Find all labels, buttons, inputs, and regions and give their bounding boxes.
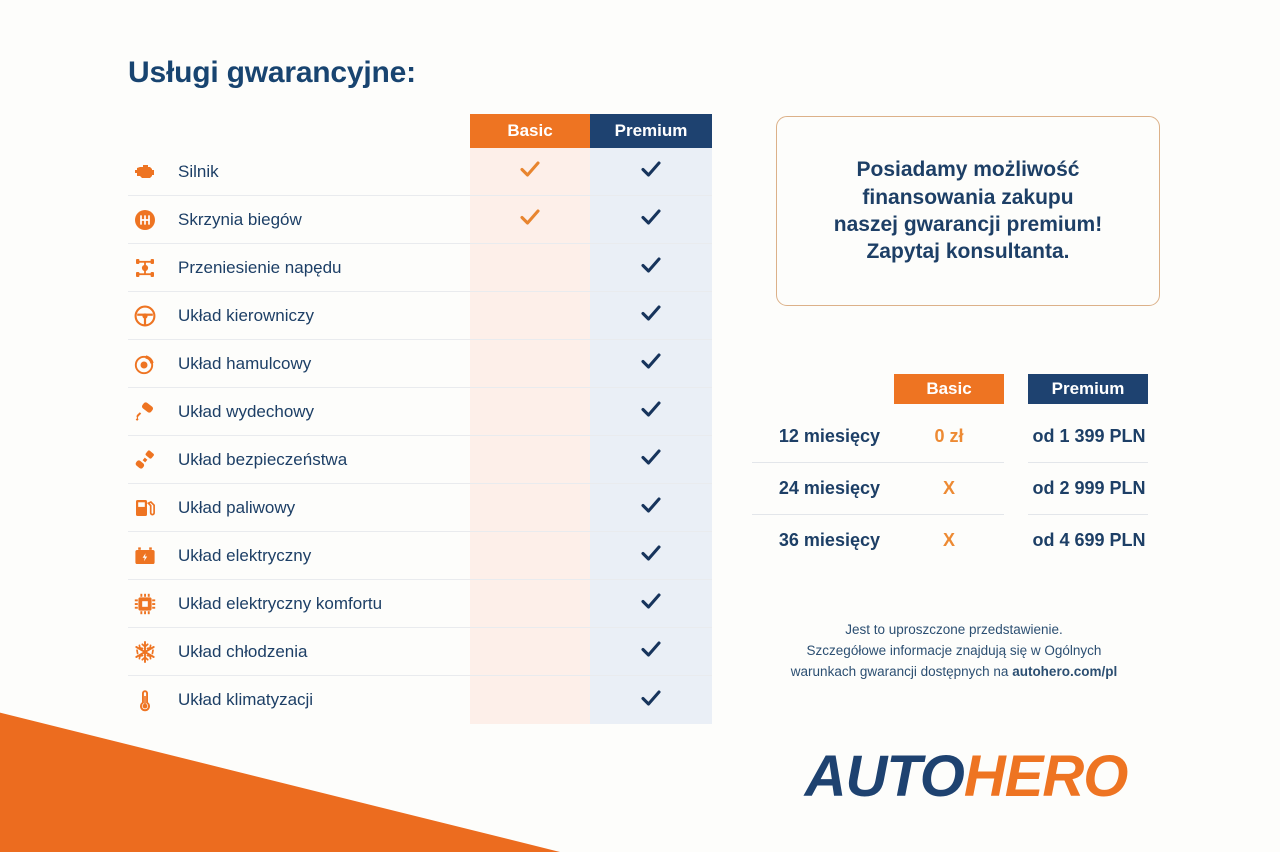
pricing-row-separator-left: [752, 462, 1004, 463]
basic-cell: [470, 484, 590, 532]
services-header-premium: Premium: [590, 114, 712, 148]
chip-icon: [128, 592, 162, 616]
service-label: Układ bezpieczeństwa: [162, 450, 470, 470]
basic-cell: [470, 388, 590, 436]
service-label: Przeniesienie napędu: [162, 258, 470, 278]
premium-cell: [590, 388, 712, 436]
pricing-table-header: Basic Premium: [752, 374, 1160, 404]
pricing-row: 12 miesięcy0 złod 1 399 PLN: [752, 410, 1160, 462]
table-row: Układ bezpieczeństwa: [128, 436, 712, 484]
pricing-basic-value: 0 zł: [894, 426, 1004, 447]
snowflake-icon: [128, 640, 162, 664]
pricing-premium-value: od 1 399 PLN: [1028, 426, 1160, 447]
table-row: Układ elektryczny: [128, 532, 712, 580]
pricing-months: 24 miesięcy: [752, 478, 894, 499]
basic-cell: [470, 676, 590, 724]
check-icon: [639, 589, 663, 618]
financing-line-3: naszej gwarancji premium!: [834, 211, 1102, 238]
table-row: Skrzynia biegów: [128, 196, 712, 244]
check-icon: [639, 541, 663, 570]
financing-line-1: Posiadamy możliwość: [834, 156, 1102, 183]
pricing-row: 36 miesięcyXod 4 699 PLN: [752, 514, 1160, 566]
pricing-table: Basic Premium 12 miesięcy0 złod 1 399 PL…: [752, 374, 1160, 566]
warranty-services-panel: Usługi gwarancyjne: Basic Premium Silnik…: [128, 56, 712, 724]
financing-callout-text: Posiadamy możliwość finansowania zakupu …: [818, 156, 1118, 265]
service-label: Układ klimatyzacji: [162, 690, 470, 710]
basic-cell: [470, 196, 590, 244]
check-icon: [639, 205, 663, 234]
basic-cell: [470, 436, 590, 484]
table-row: Przeniesienie napędu: [128, 244, 712, 292]
pricing-months: 12 miesięcy: [752, 426, 894, 447]
footnote-line-1: Jest to uproszczone przedstawienie.: [744, 620, 1164, 641]
footnote: Jest to uproszczone przedstawienie. Szcz…: [744, 620, 1164, 683]
pricing-row-separator-left: [752, 514, 1004, 515]
premium-cell: [590, 148, 712, 196]
premium-cell: [590, 628, 712, 676]
table-row: Układ chłodzenia: [128, 628, 712, 676]
check-icon: [639, 445, 663, 474]
footnote-website-link[interactable]: autohero.com/pl: [1012, 664, 1117, 679]
premium-cell: [590, 292, 712, 340]
drivetrain-icon: [128, 256, 162, 280]
battery-icon: [128, 544, 162, 568]
seatbelt-icon: [128, 448, 162, 472]
pricing-header-gap: [1004, 374, 1028, 404]
footnote-line-3-prefix: warunkach gwarancji dostępnych na: [791, 664, 1012, 679]
premium-cell: [590, 196, 712, 244]
pricing-basic-value: X: [894, 530, 1004, 551]
check-icon: [518, 205, 542, 234]
steering-wheel-icon: [128, 304, 162, 328]
basic-cell: [470, 340, 590, 388]
table-row: Silnik: [128, 148, 712, 196]
service-label: Układ chłodzenia: [162, 642, 470, 662]
table-row: Układ klimatyzacji: [128, 676, 712, 724]
basic-cell: [470, 292, 590, 340]
service-label: Układ wydechowy: [162, 402, 470, 422]
exhaust-icon: [128, 400, 162, 424]
check-icon: [639, 493, 663, 522]
services-row-list: SilnikSkrzynia biegówPrzeniesienie napęd…: [128, 148, 712, 724]
check-icon: [518, 157, 542, 186]
check-icon: [639, 301, 663, 330]
basic-cell: [470, 628, 590, 676]
page-title: Usługi gwarancyjne:: [128, 56, 712, 90]
service-label: Układ elektryczny: [162, 546, 470, 566]
brake-disc-icon: [128, 352, 162, 376]
pricing-premium-value: od 2 999 PLN: [1028, 478, 1160, 499]
service-label: Układ hamulcowy: [162, 354, 470, 374]
services-table: Basic Premium SilnikSkrzynia biegówPrzen…: [128, 114, 712, 724]
services-table-header: Basic Premium: [470, 114, 712, 148]
pricing-row-separator-right: [1028, 514, 1148, 515]
pricing-premium-value: od 4 699 PLN: [1028, 530, 1160, 551]
engine-icon: [128, 160, 162, 184]
logo-part-hero: HERO: [964, 744, 1128, 809]
check-icon: [639, 349, 663, 378]
service-label: Układ paliwowy: [162, 498, 470, 518]
gearbox-icon: [128, 208, 162, 232]
table-row: Układ elektryczny komfortu: [128, 580, 712, 628]
table-row: Układ paliwowy: [128, 484, 712, 532]
pricing-header-premium: Premium: [1028, 374, 1148, 404]
basic-cell: [470, 532, 590, 580]
premium-cell: [590, 340, 712, 388]
pricing-basic-value: X: [894, 478, 1004, 499]
pricing-header-basic: Basic: [894, 374, 1004, 404]
premium-cell: [590, 484, 712, 532]
page-root: Usługi gwarancyjne: Basic Premium Silnik…: [0, 0, 1280, 852]
premium-cell: [590, 676, 712, 724]
service-label: Skrzynia biegów: [162, 210, 470, 230]
service-label: Układ kierowniczy: [162, 306, 470, 326]
footnote-line-2: Szczegółowe informacje znajdują się w Og…: [744, 641, 1164, 662]
pricing-header-right-spacer: [1148, 374, 1160, 404]
premium-cell: [590, 244, 712, 292]
check-icon: [639, 686, 663, 715]
table-row: Układ hamulcowy: [128, 340, 712, 388]
thermometer-icon: [128, 688, 162, 712]
premium-cell: [590, 580, 712, 628]
services-header-basic: Basic: [470, 114, 590, 148]
pricing-row: 24 miesięcyXod 2 999 PLN: [752, 462, 1160, 514]
service-label: Układ elektryczny komfortu: [162, 594, 470, 614]
basic-cell: [470, 148, 590, 196]
pricing-row-list: 12 miesięcy0 złod 1 399 PLN24 miesięcyXo…: [752, 410, 1160, 566]
logo-part-auto: AUTO: [805, 744, 964, 809]
autohero-logo: AUTOHERO: [756, 748, 1176, 806]
check-icon: [639, 637, 663, 666]
basic-cell: [470, 244, 590, 292]
financing-line-4: Zapytaj konsultanta.: [834, 238, 1102, 265]
table-row: Układ wydechowy: [128, 388, 712, 436]
check-icon: [639, 253, 663, 282]
pricing-row-separator-right: [1028, 462, 1148, 463]
pricing-header-months-spacer: [752, 374, 894, 404]
basic-cell: [470, 580, 590, 628]
premium-cell: [590, 436, 712, 484]
check-icon: [639, 157, 663, 186]
fuel-pump-icon: [128, 496, 162, 520]
table-row: Układ kierowniczy: [128, 292, 712, 340]
service-label: Silnik: [162, 162, 470, 182]
premium-cell: [590, 532, 712, 580]
check-icon: [639, 397, 663, 426]
footnote-line-3: warunkach gwarancji dostępnych na autohe…: [744, 662, 1164, 683]
financing-line-2: finansowania zakupu: [834, 184, 1102, 211]
pricing-months: 36 miesięcy: [752, 530, 894, 551]
financing-callout-box: Posiadamy możliwość finansowania zakupu …: [776, 116, 1160, 306]
